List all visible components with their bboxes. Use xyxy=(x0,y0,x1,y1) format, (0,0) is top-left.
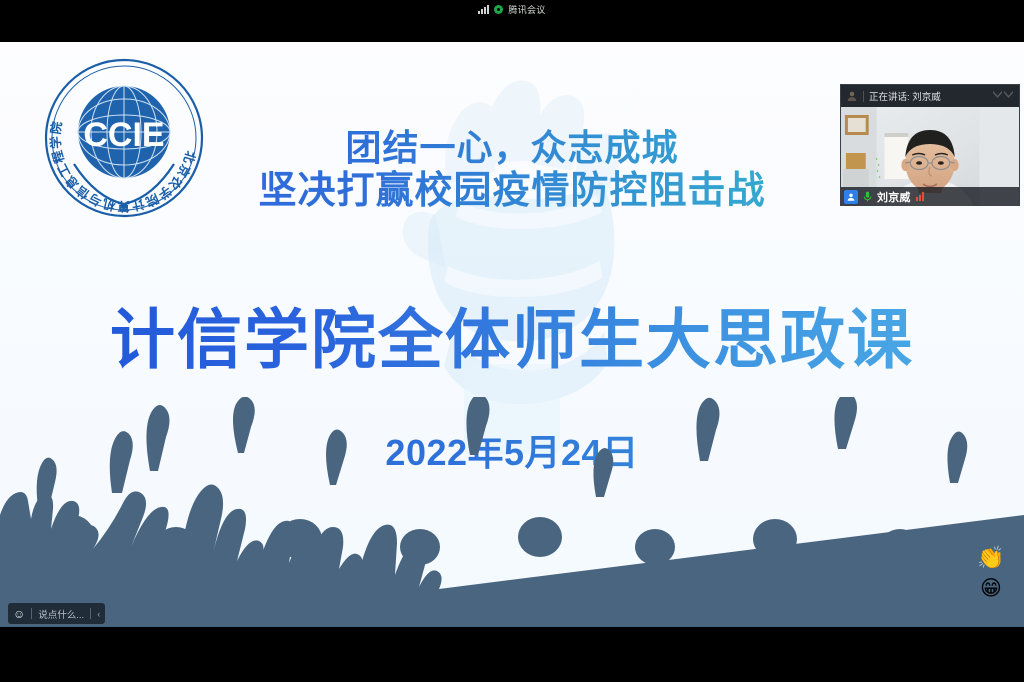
app-name-label: 腾讯会议 xyxy=(508,3,545,16)
speaking-status-label: 正在讲话: 刘京威 xyxy=(869,89,941,103)
page-title: 计信学院全体师生大思政课 xyxy=(0,287,1024,381)
speaker-video-panel[interactable]: 正在讲话: 刘京威 xyxy=(840,84,1020,206)
signal-bars-icon xyxy=(478,5,489,14)
meeting-screen: 腾讯会议 xyxy=(0,0,1024,682)
divider xyxy=(863,91,864,102)
speaker-avatar-icon xyxy=(846,90,858,102)
green-record-dot-icon xyxy=(494,5,503,14)
chevron-left-icon[interactable]: ‹ xyxy=(97,609,100,619)
grinning-face-reaction: 😁 xyxy=(980,578,1002,599)
raised-fist-icon xyxy=(352,42,672,454)
participant-label-bar: 刘京威 xyxy=(841,187,1019,206)
person-badge-icon xyxy=(844,190,858,204)
crowd-silhouette xyxy=(0,397,1024,627)
video-feed[interactable]: 刘京威 xyxy=(841,107,1019,206)
comment-input-bar[interactable]: ☺ 说点什么... ‹ xyxy=(8,603,105,624)
comment-placeholder[interactable]: 说点什么... xyxy=(38,607,84,621)
clapping-hands-reaction: 👏 xyxy=(977,547,1004,569)
audio-level-bars-icon xyxy=(916,192,924,201)
microphone-active-icon xyxy=(861,190,874,203)
floating-reactions: 👏 😁 xyxy=(968,547,1014,599)
participant-name: 刘京威 xyxy=(877,189,911,205)
divider xyxy=(90,608,91,619)
status-bar: 腾讯会议 xyxy=(0,0,1024,18)
smiley-face-icon[interactable]: ☺ xyxy=(13,608,25,620)
video-panel-header: 正在讲话: 刘京威 xyxy=(841,85,1019,107)
double-chevron-down-icon[interactable] xyxy=(993,89,1013,98)
divider xyxy=(31,608,32,619)
